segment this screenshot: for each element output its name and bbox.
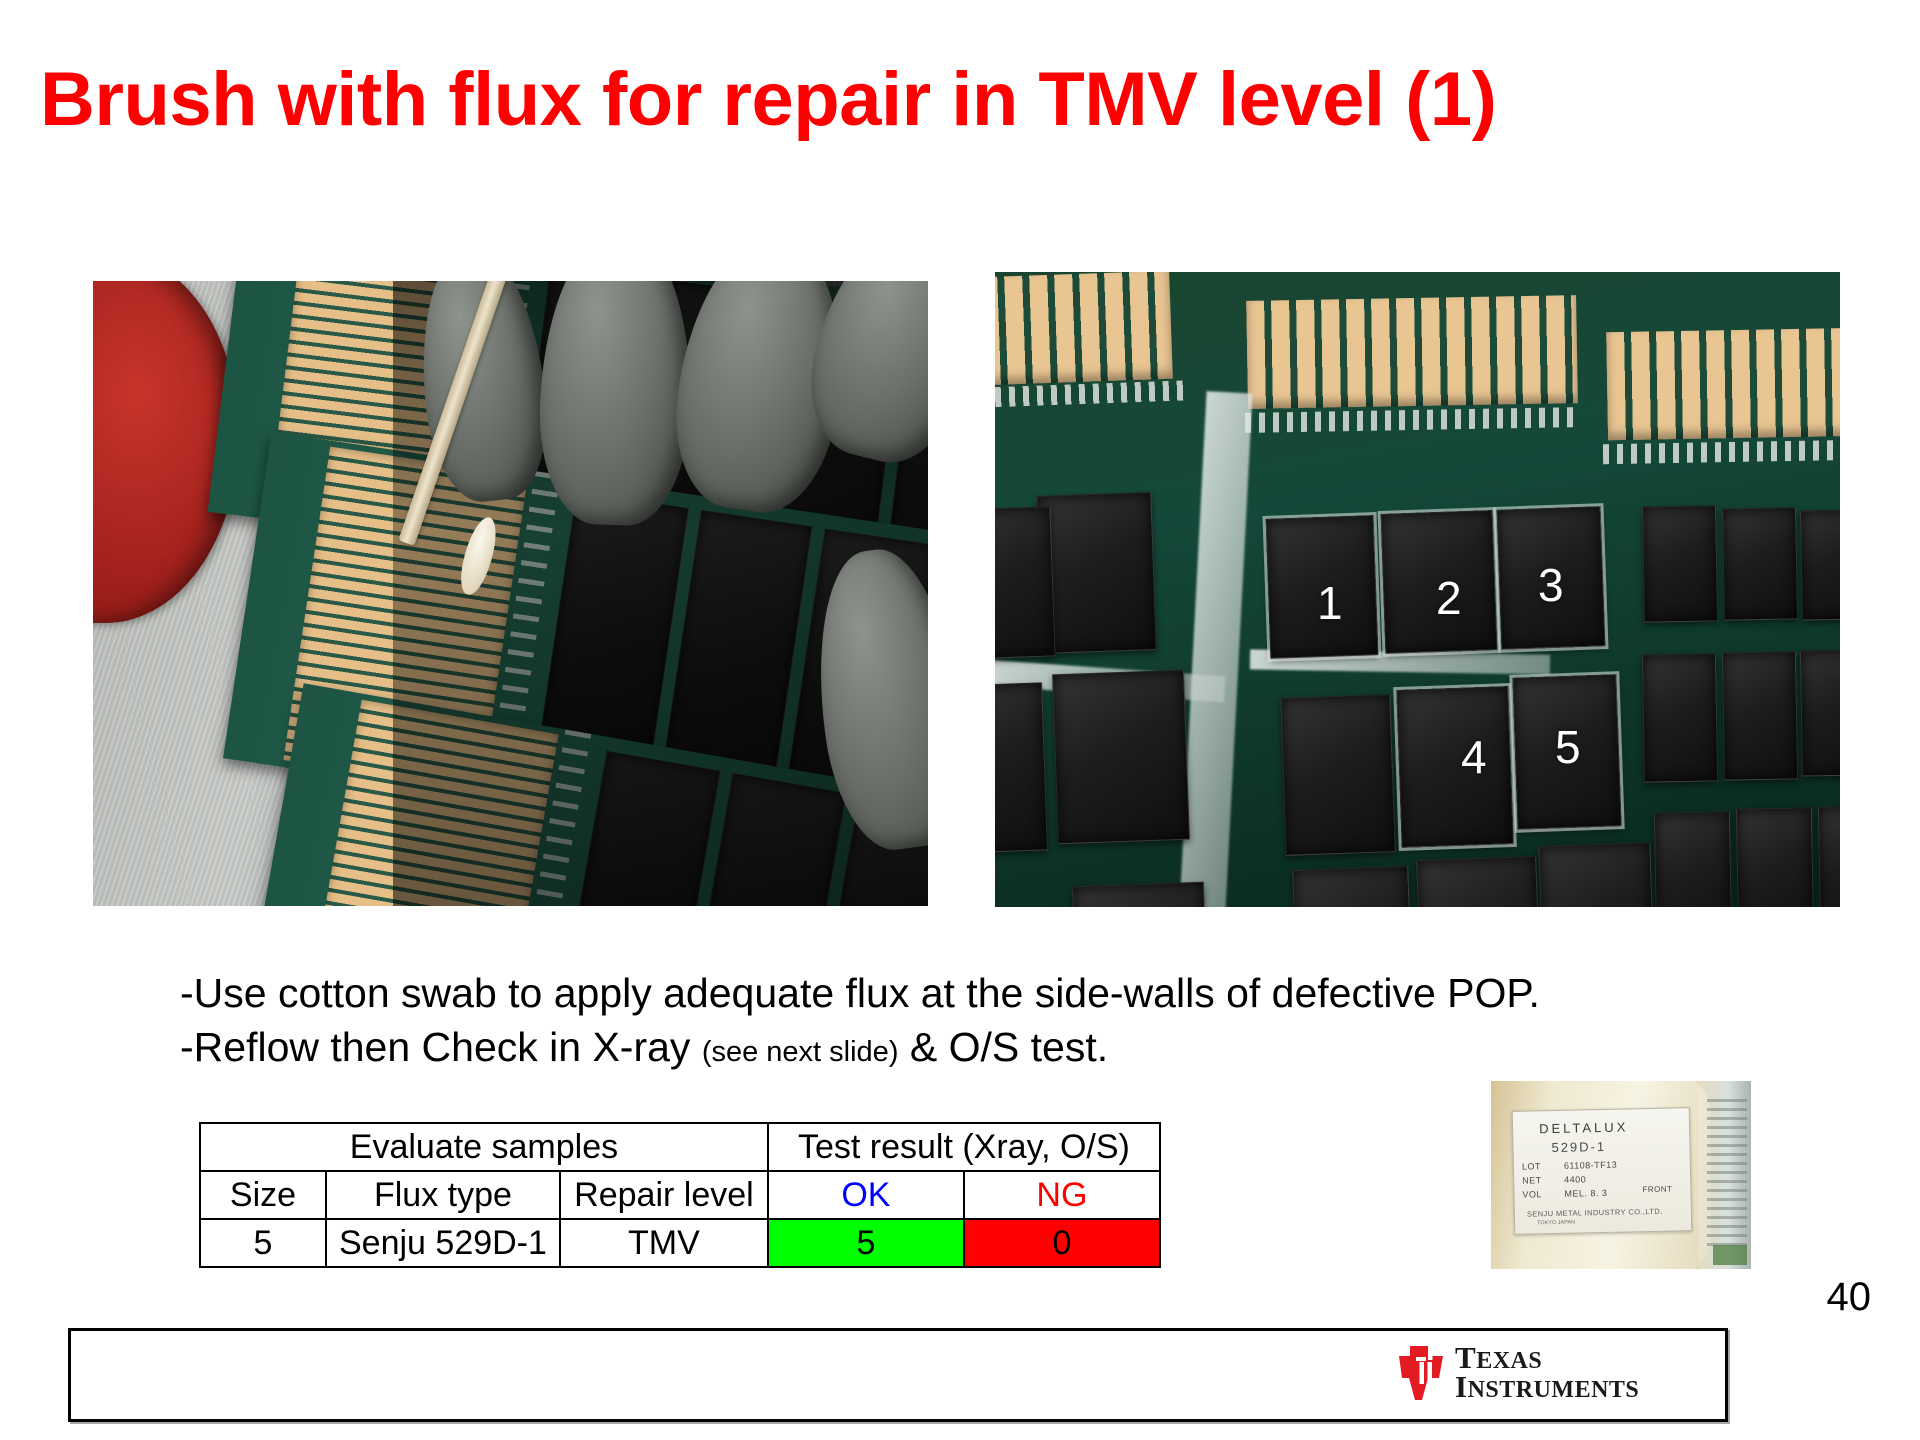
chip bbox=[1736, 807, 1814, 907]
column-header-repair-level: Repair level bbox=[560, 1171, 768, 1219]
chip bbox=[995, 682, 1048, 853]
body-text: -Use cotton swab to apply adequate flux … bbox=[180, 966, 1680, 1079]
background-object bbox=[1713, 1245, 1747, 1265]
ti-texas-mark-icon bbox=[1395, 1342, 1447, 1404]
chip-number-label-2: 2 bbox=[1436, 575, 1462, 621]
bullet-line-2-note: (see next slide) bbox=[702, 1036, 899, 1068]
slide-canvas: Brush with flux for repair in TMV level … bbox=[0, 0, 1920, 1440]
chip bbox=[1416, 856, 1542, 907]
gold-edge-contacts bbox=[995, 272, 1173, 385]
chip bbox=[1642, 653, 1718, 782]
table-row: 5 Senju 529D-1 TMV 5 0 bbox=[200, 1219, 1160, 1267]
column-header-size: Size bbox=[200, 1171, 326, 1219]
bullet-line-2-part-a: -Reflow then Check in X-ray bbox=[180, 1024, 690, 1070]
gold-edge-contacts bbox=[1246, 295, 1578, 409]
ti-wordmark-line-1: TEXAS bbox=[1455, 1344, 1639, 1373]
chip-number-label-3: 3 bbox=[1538, 562, 1564, 608]
chip-number-label-5: 5 bbox=[1555, 724, 1581, 770]
bullet-line-2: -Reflow then Check in X-ray (see next sl… bbox=[180, 1020, 1680, 1079]
cell-ok-count: 5 bbox=[768, 1219, 964, 1267]
flux-bottle-photo: DELTALUX 529D-1 LOT 61108-TF13 NET 4400 … bbox=[1491, 1081, 1751, 1269]
pop-device-blank bbox=[1280, 694, 1395, 856]
chip-number-label-1: 1 bbox=[1317, 580, 1343, 626]
chip bbox=[995, 506, 1056, 659]
chip bbox=[1292, 866, 1414, 907]
column-header-ok: OK bbox=[768, 1171, 964, 1219]
label-net-key: NET bbox=[1522, 1175, 1542, 1185]
texas-instruments-logo: TEXAS INSTRUMENTS bbox=[1395, 1342, 1639, 1404]
page-title: Brush with flux for repair in TMV level … bbox=[40, 56, 1890, 144]
cell-size: 5 bbox=[200, 1219, 326, 1267]
label-lot-key: LOT bbox=[1522, 1161, 1541, 1171]
chip bbox=[1642, 505, 1718, 622]
bullet-line-1: -Use cotton swab to apply adequate flux … bbox=[180, 966, 1680, 1020]
chip bbox=[1800, 649, 1840, 776]
table-column-header-row: Size Flux type Repair level OK NG bbox=[200, 1171, 1160, 1219]
page-number: 40 bbox=[1827, 1275, 1872, 1320]
ti-wordmark-line-2: INSTRUMENTS bbox=[1455, 1373, 1639, 1402]
label-brand: DELTALUX bbox=[1539, 1119, 1629, 1136]
chip bbox=[1722, 507, 1798, 620]
cell-flux-type: Senju 529D-1 bbox=[326, 1219, 560, 1267]
label-maker: SENJU METAL INDUSTRY CO.,LTD. bbox=[1527, 1207, 1663, 1219]
solder-pad-row bbox=[1603, 440, 1840, 464]
label-lot-value: 61108-TF13 bbox=[1564, 1160, 1618, 1171]
table-group-header-row: Evaluate samples Test result (Xray, O/S) bbox=[200, 1123, 1160, 1171]
bottle-label: DELTALUX 529D-1 LOT 61108-TF13 NET 4400 … bbox=[1512, 1107, 1693, 1235]
numbered-pop-devices-photo: 1 2 3 4 5 bbox=[995, 272, 1840, 907]
column-header-ng: NG bbox=[964, 1171, 1160, 1219]
chip bbox=[1654, 811, 1732, 907]
chip-number-label-4: 4 bbox=[1461, 734, 1487, 780]
chip bbox=[1800, 509, 1840, 620]
column-header-flux-type: Flux type bbox=[326, 1171, 560, 1219]
chip bbox=[1052, 670, 1190, 845]
label-vol-key: VOL bbox=[1522, 1189, 1542, 1199]
label-model: 529D-1 bbox=[1551, 1139, 1606, 1155]
pop-device-4 bbox=[1396, 686, 1513, 848]
chip bbox=[1722, 651, 1798, 780]
label-net-value: 4400 bbox=[1564, 1174, 1586, 1184]
evaluation-results-table: Evaluate samples Test result (Xray, O/S)… bbox=[199, 1122, 1161, 1268]
label-side-note: FRONT bbox=[1642, 1185, 1672, 1195]
gold-edge-contacts bbox=[1606, 328, 1840, 440]
cell-ng-count: 0 bbox=[964, 1219, 1160, 1267]
chip bbox=[1818, 806, 1840, 907]
chip bbox=[1538, 842, 1656, 907]
cell-repair-level: TMV bbox=[560, 1219, 768, 1267]
group-header-test-result: Test result (Xray, O/S) bbox=[768, 1123, 1160, 1171]
bullet-line-2-part-b: & O/S test. bbox=[910, 1024, 1108, 1070]
label-maker-sub: TOKYO JAPAN bbox=[1537, 1220, 1575, 1227]
group-header-evaluate-samples: Evaluate samples bbox=[200, 1123, 768, 1171]
ti-wordmark: TEXAS INSTRUMENTS bbox=[1455, 1344, 1639, 1401]
label-vol-value: MEL. 8. 3 bbox=[1564, 1188, 1607, 1199]
bottle-ribbing bbox=[1707, 1099, 1747, 1249]
cotton-swab-flux-application-photo bbox=[93, 281, 928, 906]
chip bbox=[1072, 882, 1210, 907]
